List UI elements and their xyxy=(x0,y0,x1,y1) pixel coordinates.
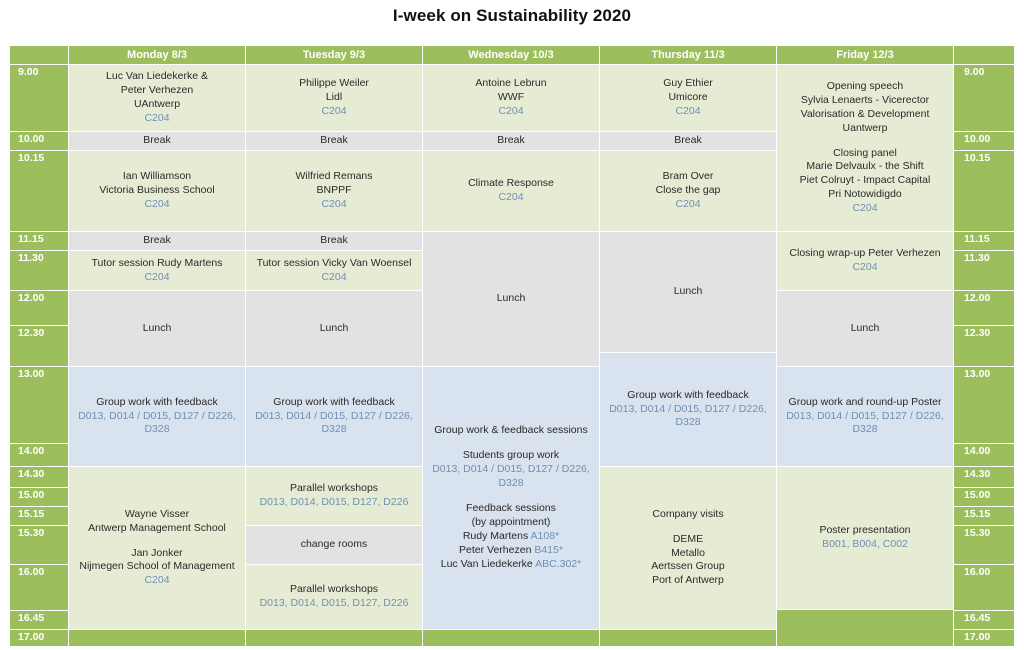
page-title: I-week on Sustainability 2020 xyxy=(0,6,1024,26)
appointment-room: B415* xyxy=(534,544,563,556)
session-line: Opening speech xyxy=(827,80,903,94)
session-room: D013, D014, D015, D127, D226 xyxy=(260,496,409,510)
header-day-friday: Friday 12/3 xyxy=(777,46,953,64)
session-line: Group work with feedback xyxy=(627,389,748,403)
time-label-left-1230: 12.30 xyxy=(10,326,68,366)
session-line: Luc Van Liedekerke & xyxy=(106,70,208,84)
monday-slot-1430[interactable]: Wayne Visser Antwerp Management School J… xyxy=(69,467,245,629)
session-line: Peter Verhezen xyxy=(121,84,193,98)
tuesday-slot-1130[interactable]: Tutor session Vicky Van Woensel C204 xyxy=(246,251,422,290)
time-label-right-1230: 12.30 xyxy=(954,326,1014,366)
session-room: B001, B004, C002 xyxy=(822,538,908,552)
session-room: C204 xyxy=(144,112,169,126)
header-day-thursday: Thursday 11/3 xyxy=(600,46,776,64)
header-corner-right xyxy=(954,46,1014,64)
session-room: D013, D014, D015, D127, D226 xyxy=(260,597,409,611)
time-label-right-1515: 15.15 xyxy=(954,507,1014,525)
session-line: Poster presentation xyxy=(819,524,910,538)
session-line: Pri Notowidigdo xyxy=(828,188,902,202)
wednesday-slot-1000-break: Break xyxy=(423,132,599,150)
session-room: C204 xyxy=(144,271,169,285)
session-line: Group work with feedback xyxy=(273,396,394,410)
session-room: C204 xyxy=(321,105,346,119)
session-line: Antoine Lebrun xyxy=(475,77,546,91)
session-line: Bram Over xyxy=(663,170,714,184)
session-room: C204 xyxy=(144,574,169,588)
time-label-right-1430: 14.30 xyxy=(954,467,1014,487)
friday-slot-end-block xyxy=(777,610,953,646)
tuesday-slot-1300-group-work[interactable]: Group work with feedback D013, D014 / D0… xyxy=(246,367,422,466)
thursday-slot-1700-end xyxy=(600,630,776,646)
tuesday-slot-1015[interactable]: Wilfried Remans BNPPF C204 xyxy=(246,151,422,231)
session-room: C204 xyxy=(675,105,700,119)
header-day-tuesday: Tuesday 9/3 xyxy=(246,46,422,64)
session-line: Tutor session Vicky Van Woensel xyxy=(257,257,412,271)
students-group-work-title: Students group work xyxy=(463,449,559,463)
session-room: D013, D014 / D015, D127 / D226, D328 xyxy=(780,410,950,438)
monday-slot-1015[interactable]: Ian Williamson Victoria Business School … xyxy=(69,151,245,231)
feedback-sessions-note: (by appointment) xyxy=(472,516,551,530)
friday-slot-1115-closing-wrapup[interactable]: Closing wrap-up Peter Verhezen C204 xyxy=(777,232,953,290)
appointment-room: ABC.302* xyxy=(535,558,581,570)
friday-slot-1200-lunch: Lunch xyxy=(777,291,953,366)
session-line: Valorisation & Development xyxy=(801,108,930,122)
session-line: Parallel workshops xyxy=(290,583,378,597)
appointment-row: Peter Verhezen B415* xyxy=(459,544,563,558)
session-line: Umicore xyxy=(668,91,707,105)
time-label-right-1015: 10.15 xyxy=(954,151,1014,231)
header-day-wednesday: Wednesday 10/3 xyxy=(423,46,599,64)
session-line: Tutor session Rudy Martens xyxy=(92,257,223,271)
thursday-slot-1115-lunch: Lunch xyxy=(600,232,776,352)
session-room: D013, D014 / D015, D127 / D226, D328 xyxy=(72,410,242,438)
session-room: C204 xyxy=(852,261,877,275)
session-line: UAntwerp xyxy=(134,98,180,112)
session-line: DEME xyxy=(673,533,703,547)
time-label-right-1300: 13.00 xyxy=(954,367,1014,443)
friday-slot-0900[interactable]: Opening speech Sylvia Lenaerts - Vicerec… xyxy=(777,65,953,231)
monday-slot-1300-group-work[interactable]: Group work with feedback D013, D014 / D0… xyxy=(69,367,245,466)
session-line: Guy Ethier xyxy=(663,77,713,91)
session-line: Lidl xyxy=(326,91,342,105)
appointment-row: Rudy Martens A108* xyxy=(463,530,559,544)
session-line: BNPPF xyxy=(316,184,351,198)
time-label-left-1645: 16.45 xyxy=(10,611,68,629)
thursday-slot-0900[interactable]: Guy Ethier Umicore C204 xyxy=(600,65,776,131)
session-line: Piet Colruyt - Impact Capital xyxy=(800,174,931,188)
session-line: Group work and round-up Poster xyxy=(789,396,942,410)
session-room: C204 xyxy=(144,198,169,212)
thursday-slot-1300-group-work[interactable]: Group work with feedback D013, D014 / D0… xyxy=(600,353,776,466)
monday-slot-1700-end xyxy=(69,630,245,646)
session-line: Ian Williamson xyxy=(123,170,191,184)
thursday-slot-1430-company-visits[interactable]: Company visits DEME Metallo Aertssen Gro… xyxy=(600,467,776,629)
monday-slot-1130[interactable]: Tutor session Rudy Martens C204 xyxy=(69,251,245,290)
session-line: Climate Response xyxy=(468,177,554,191)
tuesday-slot-1115-break: Break xyxy=(246,232,422,250)
tuesday-slot-0900[interactable]: Philippe Weiler Lidl C204 xyxy=(246,65,422,131)
tuesday-slot-1600-workshops[interactable]: Parallel workshops D013, D014, D015, D12… xyxy=(246,565,422,629)
time-label-left-1700: 17.00 xyxy=(10,630,68,646)
tuesday-slot-1000-break: Break xyxy=(246,132,422,150)
time-label-left-1600: 16.00 xyxy=(10,565,68,610)
friday-slot-1430-poster-presentation[interactable]: Poster presentation B001, B004, C002 xyxy=(777,467,953,609)
time-label-right-1530: 15.30 xyxy=(954,526,1014,564)
thursday-slot-1000-break: Break xyxy=(600,132,776,150)
session-line: Nijmegen School of Management xyxy=(79,560,234,574)
wednesday-slot-1015[interactable]: Climate Response C204 xyxy=(423,151,599,231)
session-line: Antwerp Management School xyxy=(88,522,226,536)
monday-slot-0900[interactable]: Luc Van Liedekerke & Peter Verhezen UAnt… xyxy=(69,65,245,131)
wednesday-slot-1300-group-and-feedback[interactable]: Group work & feedback sessions Students … xyxy=(423,367,599,629)
session-line: Philippe Weiler xyxy=(299,77,369,91)
time-label-right-1700: 17.00 xyxy=(954,630,1014,646)
feedback-sessions-title: Feedback sessions xyxy=(466,502,556,516)
appointment-name: Luc Van Liedekerke xyxy=(441,558,533,570)
time-label-left-1115: 11.15 xyxy=(10,232,68,250)
time-label-left-1300: 13.00 xyxy=(10,367,68,443)
session-line: Marie Delvaulx - the Shift xyxy=(806,160,923,174)
time-label-left-1500: 15.00 xyxy=(10,488,68,506)
time-label-left-0900: 9.00 xyxy=(10,65,68,131)
time-label-left-1015: 10.15 xyxy=(10,151,68,231)
session-line: WWF xyxy=(498,91,524,105)
time-label-right-1115: 11.15 xyxy=(954,232,1014,250)
session-room: D013, D014 / D015, D127 / D226, D328 xyxy=(603,403,773,431)
session-line: Wilfried Remans xyxy=(295,170,372,184)
session-line: Sylvia Lenaerts - Vicerector xyxy=(801,94,929,108)
session-line: Aertssen Group xyxy=(651,560,725,574)
session-title: Group work & feedback sessions xyxy=(434,424,588,438)
monday-slot-1200-lunch: Lunch xyxy=(69,291,245,366)
time-label-right-1645: 16.45 xyxy=(954,611,1014,629)
appointment-name: Peter Verhezen xyxy=(459,544,531,556)
friday-slot-1300-group-work-poster[interactable]: Group work and round-up Poster D013, D01… xyxy=(777,367,953,466)
wednesday-slot-0900[interactable]: Antoine Lebrun WWF C204 xyxy=(423,65,599,131)
time-label-left-1400: 14.00 xyxy=(10,444,68,466)
wednesday-slot-1115-lunch: Lunch xyxy=(423,232,599,366)
appointment-row: Luc Van Liedekerke ABC.302* xyxy=(441,558,582,572)
tuesday-slot-1700-end xyxy=(246,630,422,646)
time-label-right-1400: 14.00 xyxy=(954,444,1014,466)
session-line: Wayne Visser xyxy=(125,508,189,522)
tuesday-slot-1430-workshops[interactable]: Parallel workshops D013, D014, D015, D12… xyxy=(246,467,422,525)
session-line: Port of Antwerp xyxy=(652,574,724,588)
time-label-left-1530: 15.30 xyxy=(10,526,68,564)
time-label-right-0900: 9.00 xyxy=(954,65,1014,131)
monday-slot-1000-break: Break xyxy=(69,132,245,150)
header-day-monday: Monday 8/3 xyxy=(69,46,245,64)
tuesday-slot-1530-change-rooms: change rooms xyxy=(246,526,422,564)
time-label-left-1515: 15.15 xyxy=(10,507,68,525)
appointment-name: Rudy Martens xyxy=(463,530,528,542)
time-label-right-1200: 12.00 xyxy=(954,291,1014,325)
session-room: C204 xyxy=(498,105,523,119)
time-label-right-1000: 10.00 xyxy=(954,132,1014,150)
session-room: C204 xyxy=(321,271,346,285)
schedule-grid: Monday 8/3 Tuesday 9/3 Wednesday 10/3 Th… xyxy=(10,46,1014,641)
session-line: Victoria Business School xyxy=(99,184,214,198)
time-label-left-1000: 10.00 xyxy=(10,132,68,150)
tuesday-slot-1200-lunch: Lunch xyxy=(246,291,422,366)
session-line: Parallel workshops xyxy=(290,482,378,496)
appointment-room: A108* xyxy=(531,530,560,542)
session-room: C204 xyxy=(321,198,346,212)
time-label-right-1130: 11.30 xyxy=(954,251,1014,290)
session-line: Closing panel xyxy=(833,147,897,161)
monday-slot-1115-break: Break xyxy=(69,232,245,250)
session-line: Metallo xyxy=(671,547,705,561)
time-label-left-1430: 14.30 xyxy=(10,467,68,487)
session-room: C204 xyxy=(675,198,700,212)
session-room: C204 xyxy=(498,191,523,205)
time-label-right-1500: 15.00 xyxy=(954,488,1014,506)
time-label-right-1600: 16.00 xyxy=(954,565,1014,610)
session-line: Closing wrap-up Peter Verhezen xyxy=(789,247,940,261)
header-corner-left xyxy=(10,46,68,64)
wednesday-slot-1700-end xyxy=(423,630,599,646)
session-room: D013, D014 / D015, D127 / D226, D328 xyxy=(249,410,419,438)
session-line: Jan Jonker xyxy=(131,547,182,561)
time-label-left-1200: 12.00 xyxy=(10,291,68,325)
session-line: Group work with feedback xyxy=(96,396,217,410)
session-line: Uantwerp xyxy=(843,122,888,136)
session-line: Company visits xyxy=(652,508,723,522)
thursday-slot-1015[interactable]: Bram Over Close the gap C204 xyxy=(600,151,776,231)
students-group-work-rooms: D013, D014 / D015, D127 / D226, D328 xyxy=(426,463,596,491)
time-label-left-1130: 11.30 xyxy=(10,251,68,290)
session-room: C204 xyxy=(852,202,877,216)
session-line: Close the gap xyxy=(656,184,721,198)
